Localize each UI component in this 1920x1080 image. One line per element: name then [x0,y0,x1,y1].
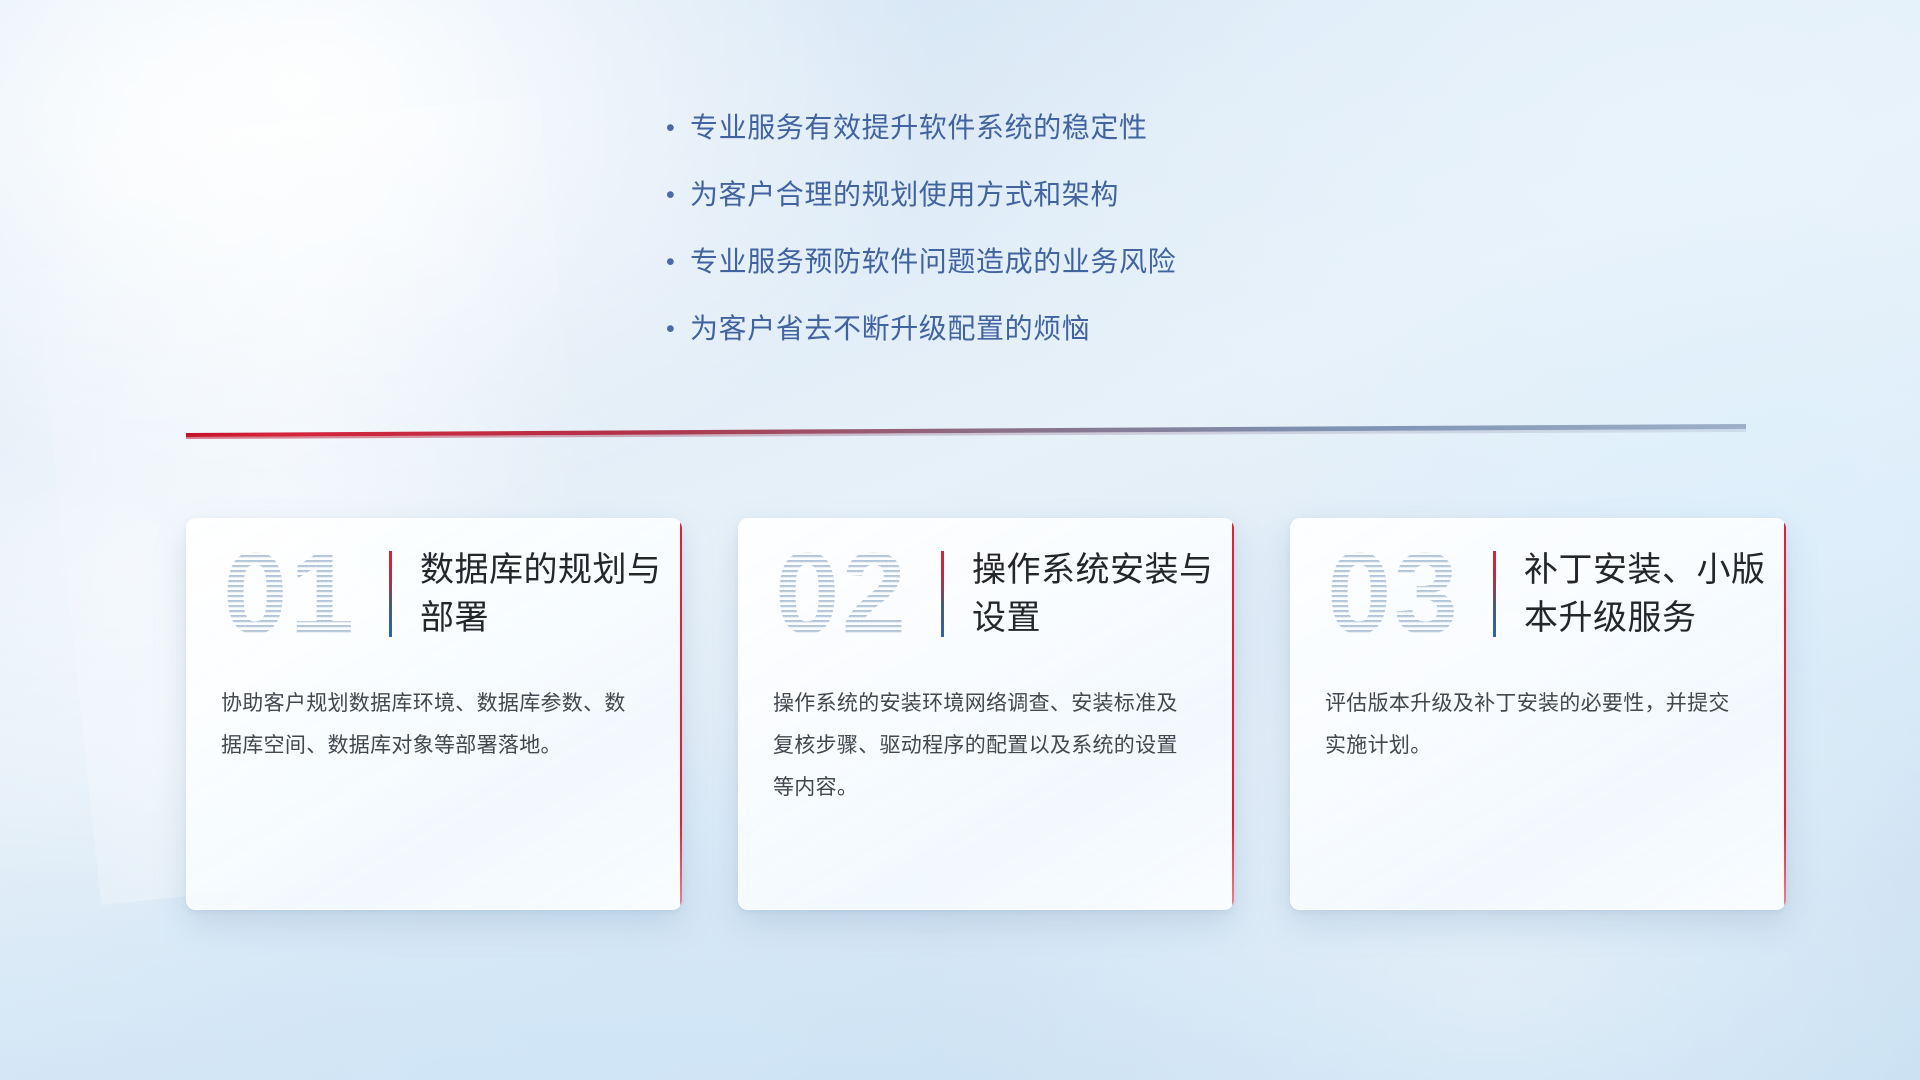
card-description: 评估版本升级及补丁安装的必要性，并提交实施计划。 [1291,669,1786,767]
bullet-dot-icon: • [660,242,690,282]
list-item: • 专业服务预防软件问题造成的业务风险 [660,242,1420,282]
card-title-separator [941,551,944,637]
bullet-text: 为客户合理的规划使用方式和架构 [690,175,1119,215]
service-card[interactable]: 03 补丁安装、小版本升级服务 评估版本升级及补丁安装的必要性，并提交实施计划。 [1290,518,1786,910]
card-number-graphic: 03 [1325,535,1487,653]
list-item: • 为客户合理的规划使用方式和架构 [660,175,1420,215]
bullet-text: 专业服务有效提升软件系统的稳定性 [690,108,1148,148]
card-title: 数据库的规划与部署 [420,546,670,642]
card-number-03-icon: 03 [1325,535,1487,653]
card-title-separator [389,551,392,637]
card-header: 02 操作系统安装与设置 [739,519,1234,669]
bullet-text: 专业服务预防软件问题造成的业务风险 [690,242,1176,282]
list-item: • 为客户省去不断升级配置的烦恼 [660,309,1420,349]
service-card[interactable]: 02 操作系统安装与设置 操作系统的安装环境网络调查、安装标准及复核步骤、驱动程… [738,518,1234,910]
bullet-dot-icon: • [660,108,690,148]
card-number-01-icon: 01 [221,535,383,653]
card-description: 协助客户规划数据库环境、数据库参数、数据库空间、数据库对象等部署落地。 [187,669,682,767]
service-card-group: 01 数据库的规划与部署 协助客户规划数据库环境、数据库参数、数据库空间、数据库… [186,518,1786,910]
slide-root: • 专业服务有效提升软件系统的稳定性 • 为客户合理的规划使用方式和架构 • 专… [0,0,1920,1080]
card-title: 补丁安装、小版本升级服务 [1524,546,1774,642]
service-card[interactable]: 01 数据库的规划与部署 协助客户规划数据库环境、数据库参数、数据库空间、数据库… [186,518,682,910]
bullet-text: 为客户省去不断升级配置的烦恼 [690,309,1090,349]
list-item: • 专业服务有效提升软件系统的稳定性 [660,108,1420,148]
card-header: 03 补丁安装、小版本升级服务 [1291,519,1786,669]
benefits-bullet-list: • 专业服务有效提升软件系统的稳定性 • 为客户合理的规划使用方式和架构 • 专… [660,108,1420,376]
card-number-graphic: 01 [221,535,383,653]
card-title: 操作系统安装与设置 [972,546,1222,642]
card-header: 01 数据库的规划与部署 [187,519,682,669]
section-divider-shape [186,424,1746,440]
card-description: 操作系统的安装环境网络调查、安装标准及复核步骤、驱动程序的配置以及系统的设置等内… [739,669,1234,809]
bullet-dot-icon: • [660,175,690,215]
card-number-02-icon: 02 [773,535,935,653]
section-divider [186,424,1746,440]
bullet-dot-icon: • [660,309,690,349]
card-title-separator [1493,551,1496,637]
card-number-graphic: 02 [773,535,935,653]
